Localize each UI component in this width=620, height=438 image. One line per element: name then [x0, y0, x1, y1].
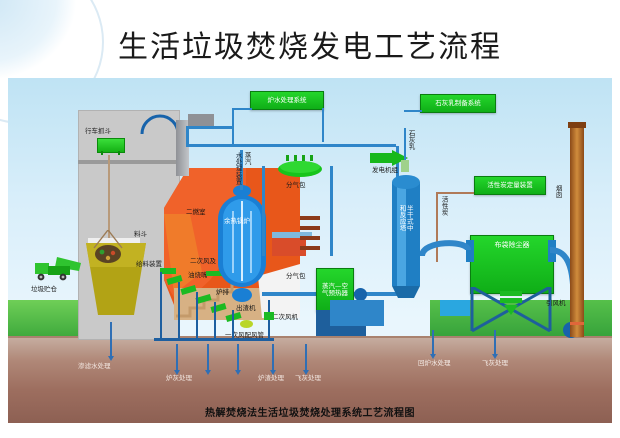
chimney-cap [568, 122, 586, 128]
label-steam-distribution-drum: 分气包 [286, 182, 306, 189]
return-water-arrow [432, 330, 434, 354]
label-flue-air-preheater: 分气包 [286, 273, 306, 280]
label-return-water-treatment: 回炉水处理 [418, 360, 451, 367]
grab-leg-right [118, 151, 120, 155]
green-box-boiler-water-treatment[interactable]: 炉水处理系统 [250, 91, 324, 110]
label-hopper: 料斗 [134, 231, 147, 238]
diagram-caption: 热解焚烧法生活垃圾焚烧处理系统工艺流程图 [0, 404, 620, 419]
steam-distribution-drum-icon [276, 155, 324, 181]
air-riser-4 [214, 302, 216, 338]
green-box-activated-carbon[interactable]: 活性炭定量装置 [474, 176, 546, 195]
tower-to-bagfilter-duct [420, 236, 472, 260]
lime-nozzle [401, 160, 409, 172]
bw-pipe-c [322, 108, 324, 142]
chimney-icon [570, 125, 584, 337]
label-feeding-device: 给料装置 [136, 261, 162, 268]
label-secondary-air-fan: 二次风机 [272, 314, 298, 321]
tube-bank-2 [300, 226, 320, 230]
upper-pipe [186, 126, 232, 129]
slag-arrow [272, 344, 274, 370]
label-steam-vertical: 蒸汽 [243, 152, 250, 165]
primary-air-manifold [154, 338, 274, 341]
ash-arrow-3 [237, 344, 239, 370]
fly-ash-arrow-center [305, 344, 307, 370]
pit-floor-line [78, 160, 178, 164]
label-furnace-ash-treatment: 炉灰处理 [166, 375, 192, 382]
slide-root: 生活垃圾焚烧发电工艺流程 行车抓斗 垃圾贮仓 [0, 0, 620, 438]
feeder-block-0 [160, 268, 176, 274]
label-chimney: 烟囱 [554, 185, 561, 198]
chimney-inlet-band [570, 322, 584, 325]
label-secondary-combustion-chamber: 二燃室 [186, 209, 206, 216]
crane-rail-icon [140, 112, 180, 136]
green-box-lime-milk-preparation[interactable]: 石灰乳制备系统 [420, 94, 496, 113]
grab-claw-icon [88, 230, 128, 266]
fly-ash-arrow-right [494, 330, 496, 354]
label-leachate-treatment: 渗滤水处理 [78, 363, 111, 370]
label-crane-grab: 行车抓斗 [85, 128, 111, 135]
steam-air-preheater-label: 蒸汽—空 气预热器 [322, 283, 348, 298]
label-semi-dry-reactor: 半干式中 和反应塔 [398, 205, 412, 231]
air-riser-3 [196, 292, 198, 338]
label-waste-heat-boiler: 余热锅炉 [224, 218, 250, 225]
waste-heat-boiler-icon [216, 185, 268, 305]
drum-down-pipe [262, 166, 265, 256]
grass-left [8, 300, 78, 338]
secondary-air-fan-icon [264, 312, 274, 320]
label-slag-treatment: 炉渣处理 [258, 375, 284, 382]
bw-pipe-a [232, 108, 252, 110]
label-fly-ash-treatment-center: 飞灰处理 [295, 375, 321, 382]
label-water-treatment-vertical: 水处理装置 [234, 152, 241, 185]
label-waste-storage-pit: 垃圾贮仓 [31, 286, 57, 293]
bag-filter-support-frame [470, 287, 552, 333]
furnace-top-duct [188, 114, 214, 126]
grab-leg-left [101, 151, 103, 155]
green-box-label: 炉水处理系统 [268, 97, 307, 104]
dump-truck-icon [33, 255, 85, 283]
tube-bank-3 [300, 236, 320, 240]
air-riser-2 [178, 282, 180, 338]
page-title: 生活垃圾焚烧发电工艺流程 [0, 22, 620, 66]
label-activated-carbon-vertical: 活性炭 [440, 196, 447, 216]
slag-discharger-icon [240, 320, 253, 328]
turbine-feed-pipe [330, 166, 333, 256]
semi-dry-reactor-icon [388, 168, 424, 302]
label-fly-ash-treatment-right: 飞灰处理 [482, 360, 508, 367]
furnace-ash-arrow [176, 344, 178, 370]
leachate-arrow [110, 322, 112, 356]
green-box-label: 活性炭定量装置 [487, 182, 533, 189]
water-tank-center [330, 300, 384, 326]
label-oil-burner: 油烧嘴 [188, 272, 208, 279]
ash-arrow-2 [207, 344, 209, 370]
tube-bank-1 [300, 216, 320, 220]
upper-pipe-drop [186, 126, 189, 146]
green-box-bag-dust-collector[interactable]: 布袋除尘器 [470, 235, 554, 294]
green-box-label: 布袋除尘器 [495, 241, 530, 249]
tube-bank-4 [300, 246, 320, 250]
label-lime-milk-vertical: 石灰乳 [407, 130, 414, 150]
air-riser-5 [232, 310, 234, 338]
water-tank-right [440, 300, 470, 316]
air-riser-1 [160, 272, 162, 338]
carbon-pipe-h [436, 192, 474, 194]
label-induced-draft-fan: 引风机 [546, 300, 566, 307]
green-box-label: 石灰乳制备系统 [435, 100, 481, 107]
label-secondary-air: 二次风及 [190, 258, 216, 265]
lime-box-pipe [404, 110, 422, 112]
main-header-pipe [186, 144, 396, 147]
bw-pipe-b [232, 108, 234, 146]
